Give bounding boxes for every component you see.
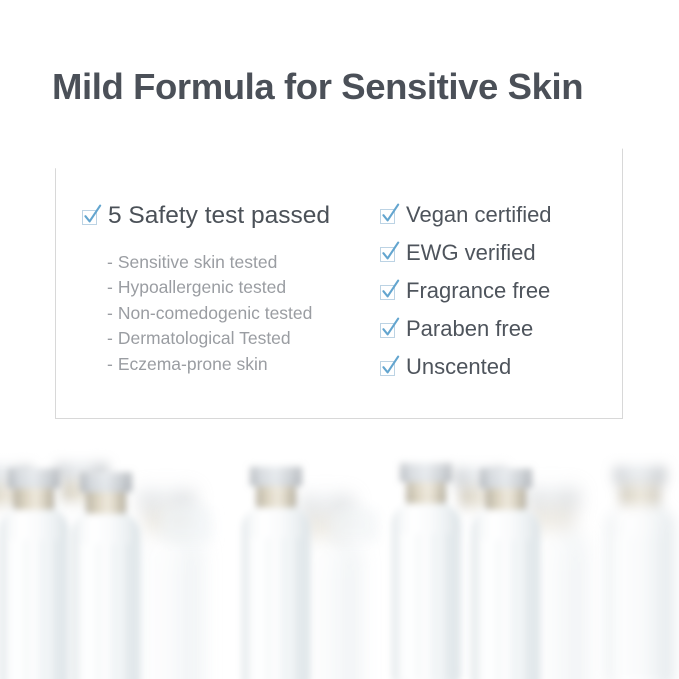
dash-bullet: - — [107, 303, 113, 323]
claims-card: 5 Safety test passed -Sensitive skin tes… — [55, 147, 623, 419]
dash-bullet: - — [107, 252, 113, 272]
page-title: Mild Formula for Sensitive Skin — [52, 66, 652, 108]
list-item: -Dermatological Tested — [107, 326, 382, 351]
claim-row-fragrance-free: Fragrance free — [380, 278, 615, 316]
claim-label: EWG verified — [406, 240, 536, 265]
dash-bullet: - — [107, 354, 113, 374]
list-item-label: Non-comedogenic tested — [118, 303, 313, 323]
list-item-label: Eczema-prone skin — [118, 354, 268, 374]
clear-glass-bottles-photo — [0, 440, 679, 679]
list-item: -Eczema-prone skin — [107, 352, 382, 377]
list-item-label: Hypoallergenic tested — [118, 277, 286, 297]
list-item-label: Sensitive skin tested — [118, 252, 278, 272]
claim-row-unscented: Unscented — [380, 354, 615, 392]
dash-bullet: - — [107, 277, 113, 297]
list-item-label: Dermatological Tested — [118, 328, 291, 348]
checkbox-checked-icon — [380, 283, 397, 300]
checkbox-checked-icon — [380, 359, 397, 376]
left-column: 5 Safety test passed -Sensitive skin tes… — [82, 202, 382, 377]
list-item: -Non-comedogenic tested — [107, 301, 382, 326]
product-feature-graphic: Mild Formula for Sensitive Skin 5 Safety… — [0, 0, 679, 679]
safety-heading-row: 5 Safety test passed — [82, 202, 382, 246]
list-item: -Sensitive skin tested — [107, 250, 382, 275]
checkbox-checked-icon — [380, 321, 397, 338]
claim-row-paraben-free: Paraben free — [380, 316, 615, 354]
claim-row-ewg-verified: EWG verified — [380, 240, 615, 278]
right-column: Vegan certified EWG verified Fragrance f… — [380, 202, 615, 392]
safety-sub-list: -Sensitive skin tested -Hypoallergenic t… — [107, 250, 382, 377]
claim-label: Vegan certified — [406, 202, 552, 227]
checkbox-checked-icon — [82, 208, 99, 225]
safety-heading-label: 5 Safety test passed — [108, 202, 330, 230]
checkbox-checked-icon — [380, 207, 397, 224]
claim-label: Unscented — [406, 354, 511, 379]
checkbox-checked-icon — [380, 245, 397, 262]
dash-bullet: - — [107, 328, 113, 348]
claim-label: Fragrance free — [406, 278, 550, 303]
claim-label: Paraben free — [406, 316, 533, 341]
claim-row-vegan-certified: Vegan certified — [380, 202, 615, 240]
list-item: -Hypoallergenic tested — [107, 275, 382, 300]
